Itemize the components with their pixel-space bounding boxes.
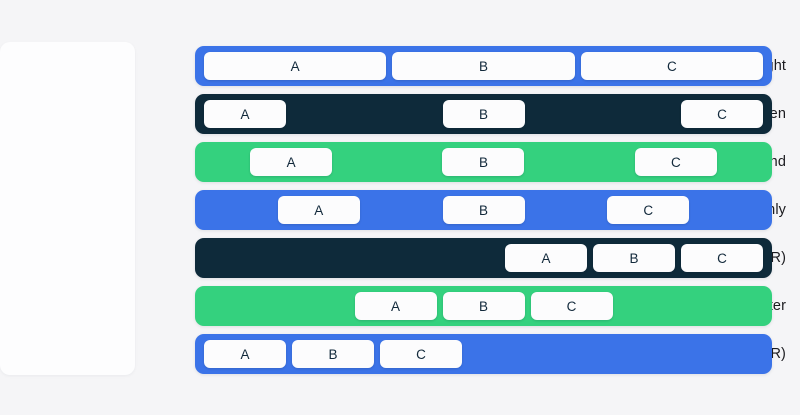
flex-item[interactable]: B bbox=[443, 292, 525, 320]
flex-item[interactable]: B bbox=[392, 52, 574, 80]
flex-item[interactable]: A bbox=[505, 244, 587, 272]
justify-bar-end: ABC bbox=[195, 238, 772, 278]
flex-item[interactable]: A bbox=[204, 52, 386, 80]
flex-item[interactable]: C bbox=[607, 196, 689, 224]
justify-bar-center: ABC bbox=[195, 286, 772, 326]
flex-item[interactable]: B bbox=[442, 148, 524, 176]
justify-bar-start: ABC bbox=[195, 334, 772, 374]
label-panel bbox=[0, 42, 135, 375]
justify-bar-space-between: ABC bbox=[195, 94, 772, 134]
flex-item[interactable]: A bbox=[204, 340, 286, 368]
flex-item[interactable]: C bbox=[681, 244, 763, 272]
flex-item[interactable]: B bbox=[593, 244, 675, 272]
demo-stage: Equal WeightSpace BetweenSpace AroundSpa… bbox=[0, 0, 800, 415]
flex-item[interactable]: C bbox=[380, 340, 462, 368]
flex-item[interactable]: B bbox=[443, 196, 525, 224]
flex-item[interactable]: B bbox=[292, 340, 374, 368]
flex-item[interactable]: A bbox=[278, 196, 360, 224]
flex-item[interactable]: C bbox=[681, 100, 763, 128]
flex-item[interactable]: C bbox=[581, 52, 763, 80]
flex-item[interactable]: A bbox=[204, 100, 286, 128]
flex-item[interactable]: C bbox=[635, 148, 717, 176]
flex-item[interactable]: C bbox=[531, 292, 613, 320]
justify-bar-equal: ABC bbox=[195, 46, 772, 86]
justify-bar-space-around: ABC bbox=[195, 142, 772, 182]
flex-item[interactable]: A bbox=[355, 292, 437, 320]
flex-item[interactable]: A bbox=[250, 148, 332, 176]
justify-bar-space-evenly: ABC bbox=[195, 190, 772, 230]
flex-item[interactable]: B bbox=[443, 100, 525, 128]
